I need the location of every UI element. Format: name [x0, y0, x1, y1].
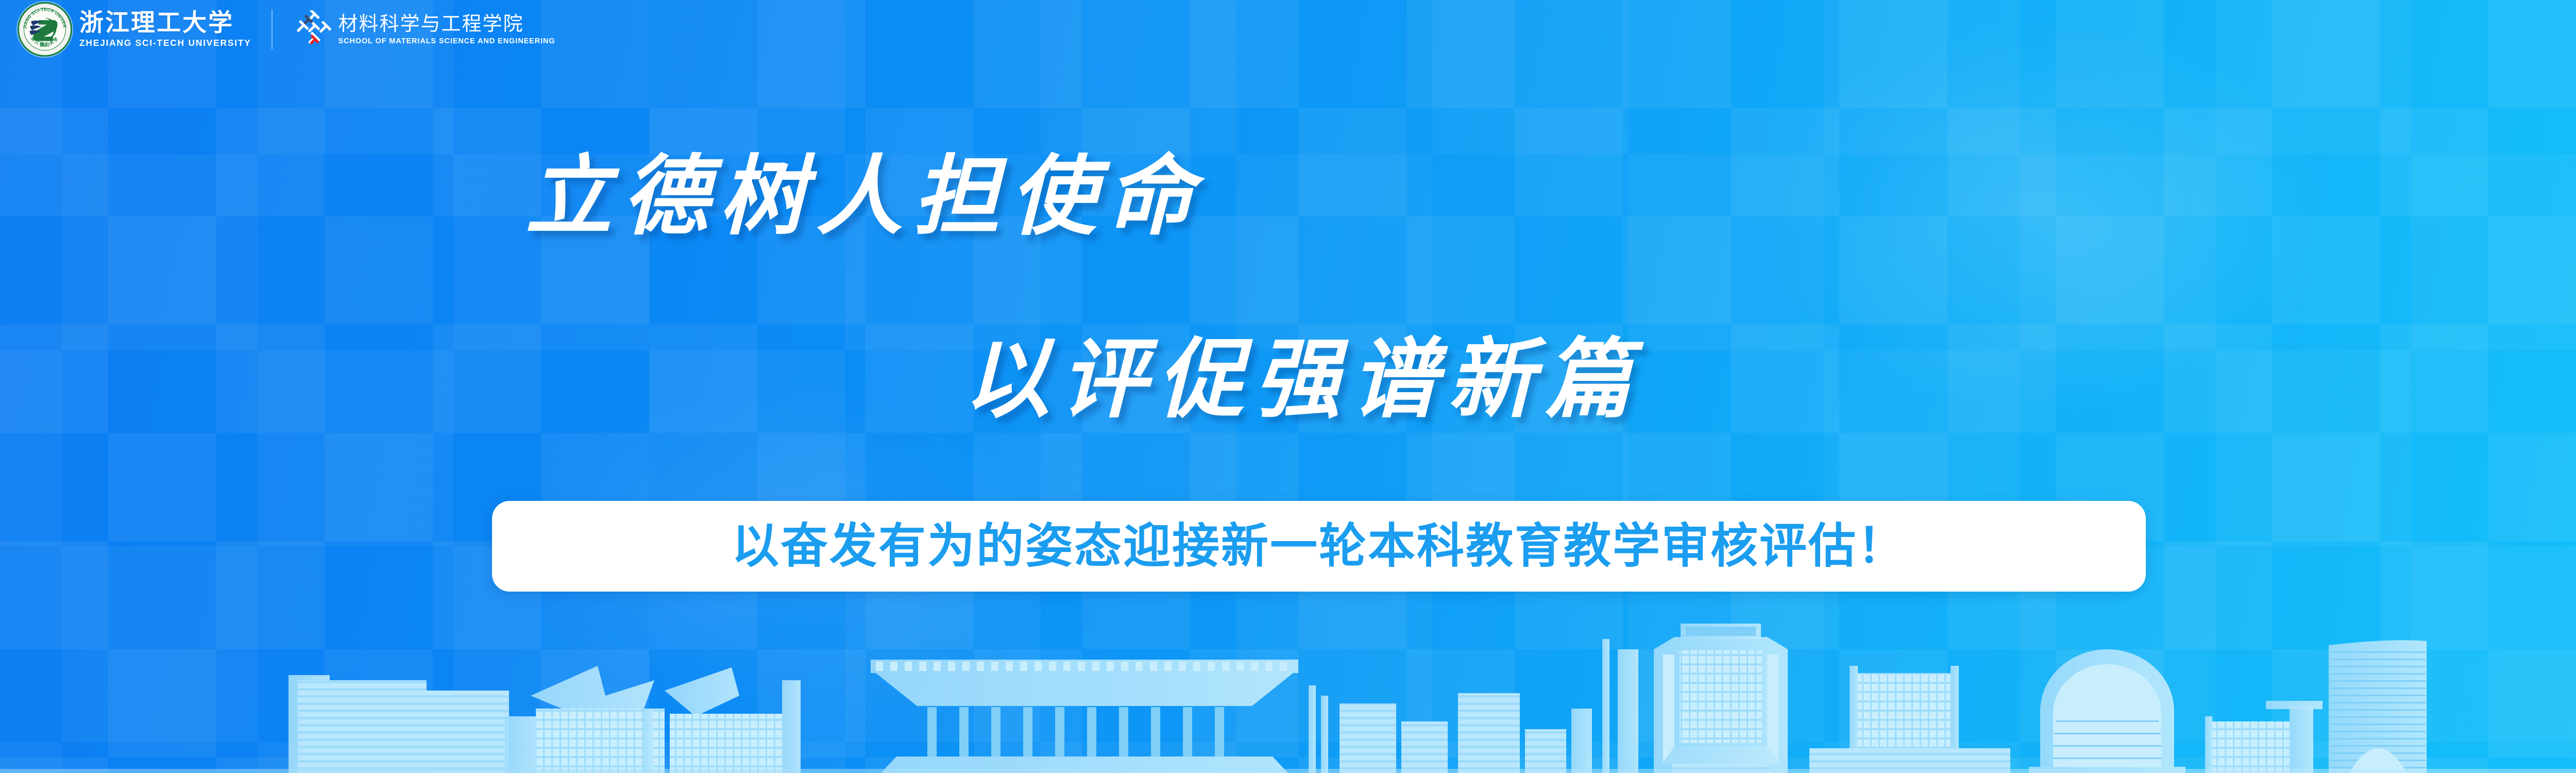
school-name-en: SCHOOL OF MATERIALS SCIENCE AND ENGINEER… [338, 38, 555, 45]
subtitle-text: 以奋发有为的姿态迎接新一轮本科教育教学审核评估！ [732, 523, 1906, 570]
school-name-block: 材料科学与工程学院 SCHOOL OF MATERIALS SCIENCE AN… [338, 14, 555, 45]
university-logo-lock: ZHEJIANG SCI-TECH UNIVERSITY 浙江理工大学 1897 [18, 2, 251, 57]
zstu-seal-icon: ZHEJIANG SCI-TECH UNIVERSITY 浙江理工大学 1897 [18, 2, 72, 57]
logo-divider [272, 9, 273, 49]
university-name-cn: 浙江理工大学 [79, 11, 251, 35]
headline-line-2: 以评促强谱新篇 [963, 309, 1641, 434]
logo-row: ZHEJIANG SCI-TECH UNIVERSITY 浙江理工大学 1897 [18, 2, 555, 57]
promotional-banner: ZHEJIANG SCI-TECH UNIVERSITY 浙江理工大学 1897 [0, 0, 2576, 773]
svg-text:ZHEJIANG SCI-TECH UNIVERSITY: ZHEJIANG SCI-TECH UNIVERSITY [19, 4, 67, 29]
svg-text:1897: 1897 [40, 43, 50, 48]
headline-line-1: 立德树人担使命 [526, 126, 1204, 251]
crystal-lattice-icon [293, 10, 331, 48]
school-name-cn: 材料科学与工程学院 [338, 14, 555, 33]
university-name-en: ZHEJIANG SCI-TECH UNIVERSITY [79, 39, 251, 48]
campus-skyline-silhouette [0, 618, 2576, 773]
university-name-block: 浙江理工大学 ZHEJIANG SCI-TECH UNIVERSITY [79, 11, 251, 48]
school-logo-lock: 材料科学与工程学院 SCHOOL OF MATERIALS SCIENCE AN… [293, 10, 555, 48]
subtitle-banner: 以奋发有为的姿态迎接新一轮本科教育教学审核评估！ [492, 501, 2146, 592]
